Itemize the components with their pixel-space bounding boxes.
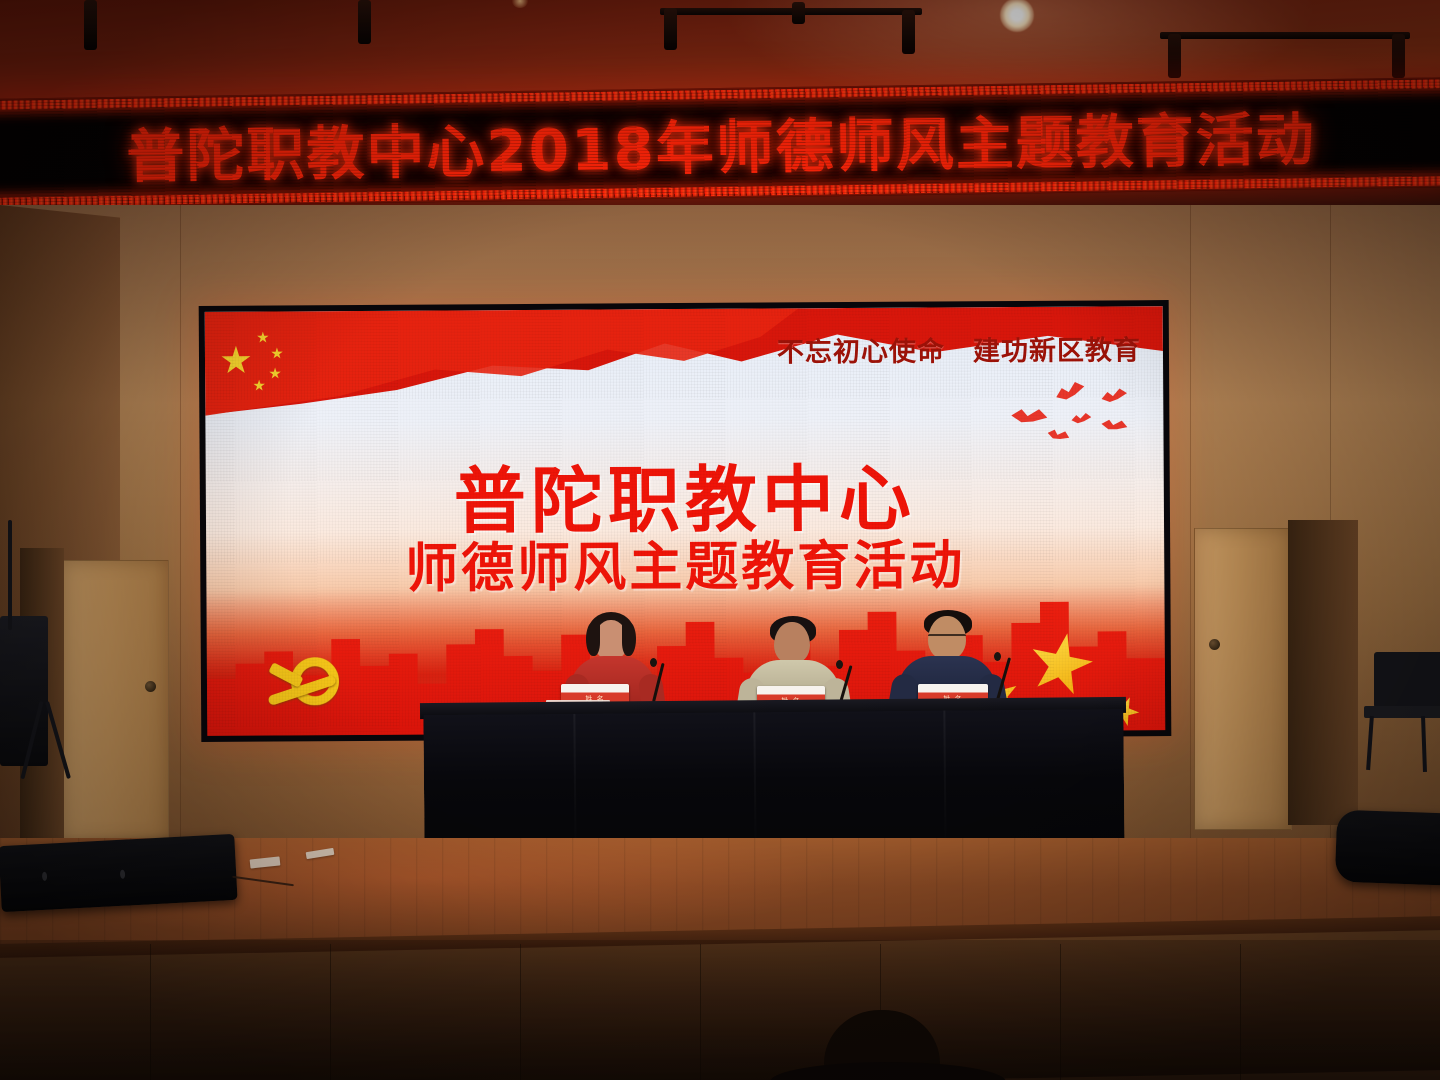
cloth-fold <box>943 711 946 859</box>
dove-icon <box>1071 412 1092 425</box>
screen-slogan: 不忘初心使命 建功新区教育 <box>777 328 1141 369</box>
track-light-icon <box>902 10 915 54</box>
dove-icon <box>1053 379 1087 405</box>
hair-side <box>586 622 600 656</box>
led-banner-sign: 普陀职教中心2018年师德师风主题教育活动 <box>0 77 1440 209</box>
wall-seam <box>1190 205 1191 865</box>
flag-star-small <box>257 332 269 344</box>
microphone-head-icon <box>650 658 657 667</box>
door-frame-gap-right <box>1288 520 1358 825</box>
glasses-icon <box>928 634 966 642</box>
dove-icon <box>1100 416 1128 435</box>
stage-face-seam <box>700 944 701 1080</box>
chair-back <box>1374 652 1440 708</box>
side-chair[interactable] <box>1360 652 1440 772</box>
stage-face-seam <box>1240 944 1241 1080</box>
hair-side <box>622 622 636 656</box>
wall-seam <box>180 205 181 865</box>
stage-monitor-speaker-left <box>0 834 238 912</box>
chair-seat <box>1364 706 1440 718</box>
track-light-icon <box>664 8 677 50</box>
dove-icon <box>1010 405 1048 429</box>
photo-scene: 普陀职教中心2018年师德师风主题教育活动 不忘初心使命 建功新区教育 <box>0 0 1440 1080</box>
cpc-hammer-sickle-emblem-icon <box>263 655 349 718</box>
stage-face-seam <box>330 944 331 1080</box>
speaker-port <box>120 870 125 879</box>
stage-face-seam <box>150 944 151 1080</box>
head <box>774 622 810 664</box>
chinese-flag-stars-icon <box>219 329 339 392</box>
stage-face-seam <box>1060 944 1061 1080</box>
stage-monitor-speaker-right <box>1335 810 1440 887</box>
stage-door-left[interactable] <box>62 560 169 842</box>
door-knob-icon[interactable] <box>145 681 156 692</box>
microphone-head-icon <box>836 660 843 669</box>
door-knob-icon[interactable] <box>1209 639 1220 650</box>
flag-star-small <box>271 347 283 359</box>
led-display-screen: 不忘初心使命 建功新区教育 普陀职教中心 师德师风主题教育活动 <box>199 300 1172 742</box>
track-light-icon <box>1168 34 1181 78</box>
track-light-icon <box>84 0 97 50</box>
stage-door-right[interactable] <box>1194 528 1292 830</box>
av-equipment-rack <box>0 616 48 766</box>
banner-text: 普陀职教中心2018年师德师风主题教育活动 <box>0 77 1440 209</box>
stage-face-seam <box>520 944 521 1080</box>
equipment-stand-pole <box>8 520 12 630</box>
chair-leg <box>1366 716 1374 770</box>
chair-leg <box>1421 716 1427 772</box>
light-track-rail <box>660 8 922 15</box>
flag-star-small <box>253 380 265 392</box>
track-light-icon <box>358 0 371 44</box>
track-light-icon <box>792 2 805 24</box>
track-light-icon <box>1392 34 1405 78</box>
flag-star-large <box>221 346 251 376</box>
microphone-head-icon <box>994 652 1001 661</box>
dove-icon <box>1100 387 1128 406</box>
speaker-port <box>42 872 47 881</box>
screen-content: 不忘初心使命 建功新区教育 普陀职教中心 师德师风主题教育活动 <box>205 306 1166 736</box>
flag-star-small <box>269 367 281 379</box>
light-track-rail <box>1160 32 1410 39</box>
